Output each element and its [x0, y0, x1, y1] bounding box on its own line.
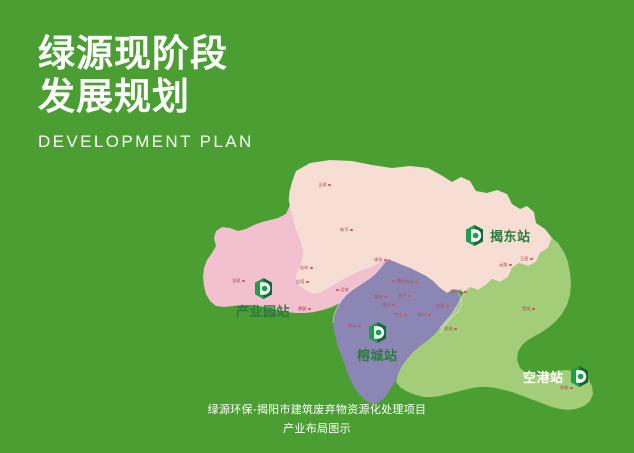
- station-label-konggang: 空港站: [523, 367, 564, 386]
- town-label: 新亨: [340, 228, 348, 232]
- town-marker: 中山: [394, 313, 407, 317]
- town-label: 月城: [340, 288, 348, 292]
- station-label-jiedong: 揭东站: [490, 226, 531, 245]
- town-dot-icon: [336, 289, 339, 292]
- greenyuan-logo-icon: [369, 322, 386, 343]
- town-dot-icon: [454, 328, 457, 331]
- town-marker: 云路: [499, 263, 512, 267]
- town-label: 锡场: [374, 258, 382, 262]
- greenyuan-logo-icon: [571, 366, 588, 387]
- town-label: 霖磐: [298, 307, 306, 311]
- town-dot-icon: [570, 387, 573, 390]
- town-label: 中山: [394, 313, 402, 317]
- town-dot-icon: [306, 281, 309, 284]
- town-label: 埔田: [396, 279, 404, 283]
- town-marker: 新亨: [340, 228, 353, 232]
- town-marker: 桂岭: [300, 266, 313, 270]
- town-label: 炮台: [382, 303, 390, 307]
- town-dot-icon: [328, 184, 331, 187]
- town-dot-icon: [446, 305, 449, 308]
- town-label: 仙桥: [436, 304, 444, 308]
- town-label: 登岗: [522, 307, 530, 311]
- station-marker-rongcheng[interactable]: 榕城站: [357, 322, 398, 364]
- town-marker: 登岗: [522, 307, 535, 311]
- town-marker: 白塔: [296, 280, 309, 284]
- greenyuan-logo-icon: [255, 278, 272, 299]
- station-marker-chanyeyuan[interactable]: 产业园站: [236, 278, 290, 320]
- town-dot-icon: [464, 291, 467, 294]
- station-marker-konggang[interactable]: 空港站: [523, 366, 588, 387]
- town-marker: 霖磐: [298, 307, 311, 311]
- page-title-line-1: 绿源现阶段: [38, 32, 368, 75]
- page-title-line-2: 发展规划: [38, 75, 368, 118]
- town-dot-icon: [350, 229, 353, 232]
- town-dot-icon: [532, 308, 535, 311]
- town-dot-icon: [308, 308, 311, 311]
- town-dot-icon: [404, 314, 407, 317]
- town-marker: 东兴: [398, 294, 411, 298]
- page-subtitle-english: DEVELOPMENT PLAN: [38, 132, 368, 152]
- town-label: 云路: [499, 263, 507, 267]
- town-marker: 埔田: [392, 279, 405, 283]
- caption-block: 绿源环保-揭阳市建筑废弃物资源化处理项目 产业布局图示: [0, 401, 634, 439]
- greenyuan-logo-icon: [571, 366, 588, 387]
- town-marker: 玉湖: [318, 183, 331, 187]
- town-label: 玉湖: [318, 183, 326, 187]
- town-marker: 渔湖: [444, 327, 457, 331]
- town-label: 梅云: [348, 324, 356, 328]
- town-label: 渔湖: [444, 327, 452, 331]
- station-label-chanyeyuan: 产业园站: [236, 301, 290, 320]
- station-marker-jiedong[interactable]: 揭东站: [466, 225, 531, 246]
- town-dot-icon: [408, 295, 411, 298]
- town-label: 新兴: [418, 313, 426, 317]
- town-marker: 新兴: [418, 313, 431, 317]
- town-marker: 月城: [336, 288, 349, 292]
- town-marker: 仙桥: [436, 304, 449, 308]
- town-marker: 玉窖: [520, 257, 533, 261]
- town-label: 曲溪: [405, 280, 413, 284]
- town-marker: 炮台: [382, 303, 395, 307]
- town-marker: 磐东: [374, 295, 387, 299]
- greenyuan-logo-icon: [369, 322, 386, 343]
- town-label: 揭东县: [450, 290, 463, 294]
- town-dot-icon: [392, 304, 395, 307]
- town-dot-icon: [384, 259, 387, 262]
- town-label: 白塔: [296, 280, 304, 284]
- greenyuan-logo-icon: [466, 225, 483, 246]
- town-marker: 曲溪: [405, 280, 418, 284]
- town-label: 东兴: [398, 294, 406, 298]
- town-dot-icon: [415, 281, 418, 284]
- town-dot-icon: [530, 258, 533, 261]
- poster-root: 绿源现阶段 发展规划 DEVELOPMENT PLAN 揭东站产业园站榕城站空港…: [0, 0, 634, 453]
- town-dot-icon: [310, 267, 313, 270]
- town-marker: 揭东县: [450, 290, 467, 294]
- town-dot-icon: [428, 314, 431, 317]
- town-dot-icon: [384, 296, 387, 299]
- title-block: 绿源现阶段 发展规划 DEVELOPMENT PLAN: [38, 32, 368, 152]
- greenyuan-logo-icon: [255, 278, 272, 299]
- town-label: 玉窖: [520, 257, 528, 261]
- town-label: 磐东: [374, 295, 382, 299]
- station-label-rongcheng: 榕城站: [357, 345, 398, 364]
- town-label: 桂岭: [300, 266, 308, 270]
- caption-line-2: 产业布局图示: [0, 420, 634, 439]
- caption-line-1: 绿源环保-揭阳市建筑废弃物资源化处理项目: [0, 401, 634, 420]
- town-dot-icon: [509, 264, 512, 267]
- greenyuan-logo-icon: [466, 225, 483, 246]
- town-marker: 锡场: [374, 258, 387, 262]
- town-dot-icon: [392, 280, 395, 283]
